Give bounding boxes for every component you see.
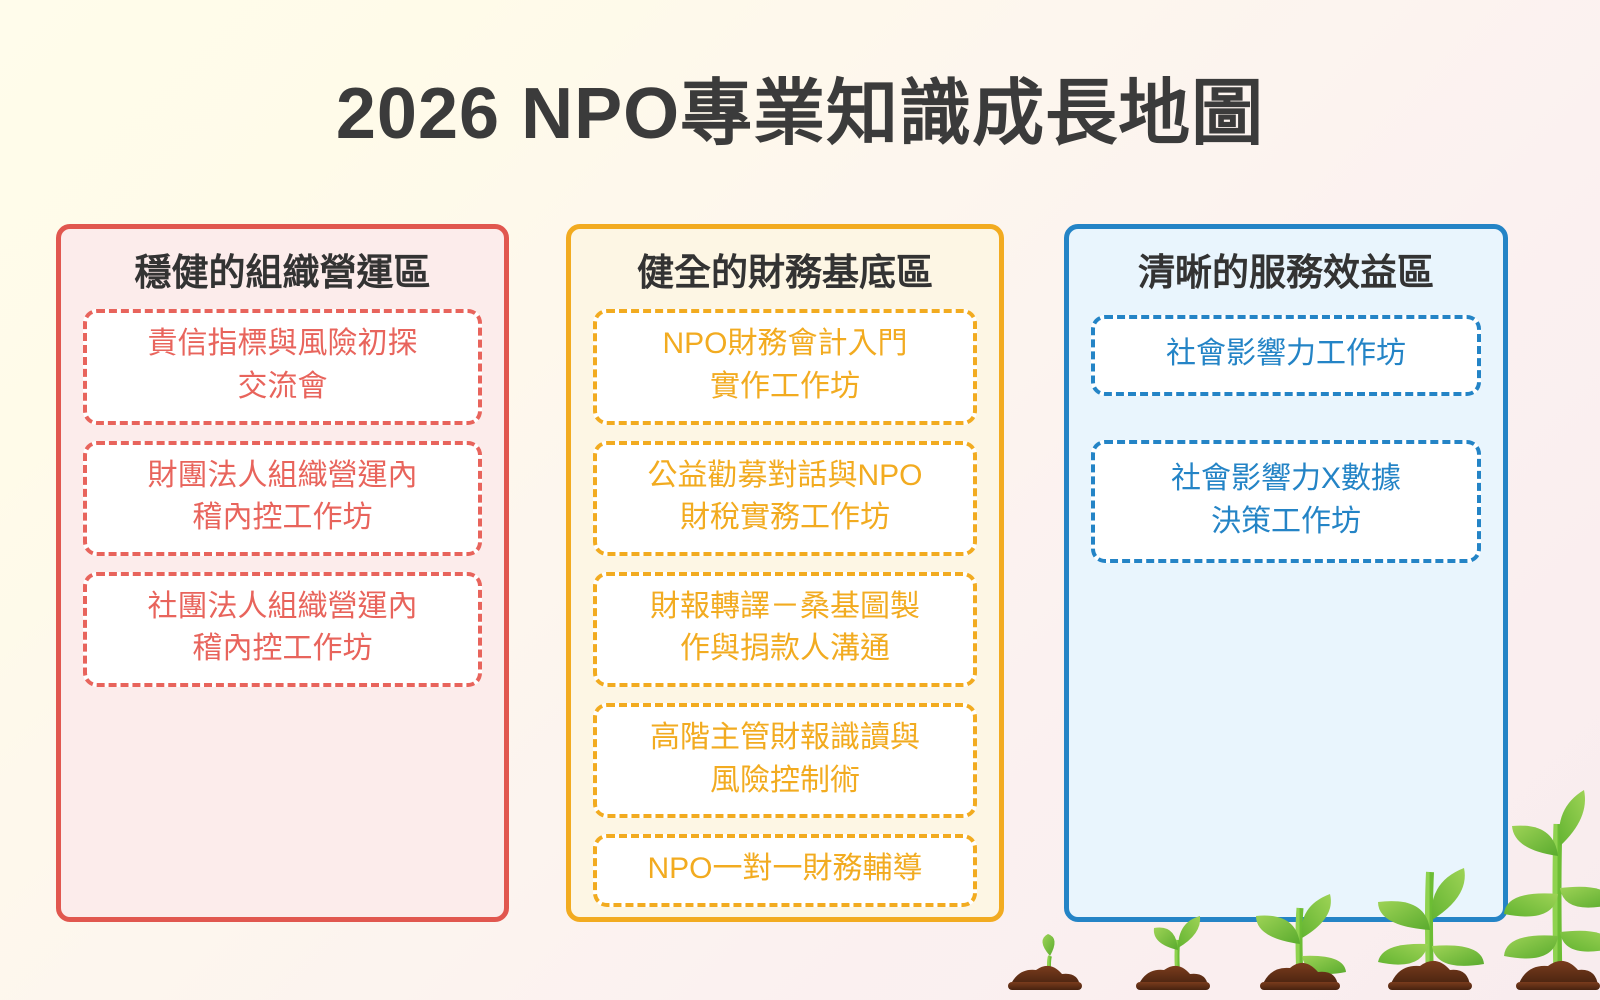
course-card-line: 財報轉譯－桑基圖製 xyxy=(603,586,967,629)
course-card-line: 財稅實務工作坊 xyxy=(603,497,967,540)
column-service-impact: 清晰的服務效益區 社會影響力工作坊 社會影響力X數據 決策工作坊 xyxy=(1064,224,1508,922)
course-card-line: 作與捐款人溝通 xyxy=(603,628,967,671)
course-card[interactable]: 高階主管財報識讀與 風險控制術 xyxy=(593,703,977,818)
course-card[interactable]: 公益勸募對話與NPO 財稅實務工作坊 xyxy=(593,441,977,556)
course-card-line: 公益勸募對話與NPO xyxy=(603,455,967,498)
course-card-line: 責信指標與風險初探 xyxy=(93,323,472,366)
course-card-line: NPO財務會計入門 xyxy=(603,323,967,366)
card-list-service-impact: 社會影響力工作坊 社會影響力X數據 決策工作坊 xyxy=(1091,309,1481,607)
course-card-line: 稽內控工作坊 xyxy=(93,497,472,540)
course-card-line: 實作工作坊 xyxy=(603,366,967,409)
course-card-line: 社會影響力工作坊 xyxy=(1101,333,1471,376)
course-card-line: 稽內控工作坊 xyxy=(93,628,472,671)
course-card[interactable]: 財團法人組織營運內 稽內控工作坊 xyxy=(83,441,482,556)
course-card-line: 決策工作坊 xyxy=(1101,501,1471,544)
page-title: 2026 NPO專業知識成長地圖 xyxy=(0,78,1600,150)
column-header: 穩健的組織營運區 xyxy=(83,243,482,309)
column-header: 清晰的服務效益區 xyxy=(1091,243,1481,309)
course-card[interactable]: 社團法人組織營運內 稽內控工作坊 xyxy=(83,572,482,687)
course-card[interactable]: 社會影響力工作坊 xyxy=(1091,315,1481,396)
course-card[interactable]: 社會影響力X數據 決策工作坊 xyxy=(1091,440,1481,563)
column-organization-operations: 穩健的組織營運區 責信指標與風險初探 交流會 財團法人組織營運內 稽內控工作坊 … xyxy=(56,224,509,922)
course-card-line: 社團法人組織營運內 xyxy=(93,586,472,629)
course-card[interactable]: NPO一對一財務輔導 xyxy=(593,834,977,907)
course-card-line: 高階主管財報識讀與 xyxy=(603,717,967,760)
course-card[interactable]: NPO財務會計入門 實作工作坊 xyxy=(593,309,977,424)
column-financial-foundation: 健全的財務基底區 NPO財務會計入門 實作工作坊 公益勸募對話與NPO 財稅實務… xyxy=(566,224,1004,922)
course-card-line: NPO一對一財務輔導 xyxy=(603,848,967,891)
seedling-stage-2 xyxy=(1136,916,1210,990)
column-header: 健全的財務基底區 xyxy=(593,243,977,309)
seedling-stage-1 xyxy=(1008,934,1082,990)
card-list-financial-foundation: NPO財務會計入門 實作工作坊 公益勸募對話與NPO 財稅實務工作坊 財報轉譯－… xyxy=(593,309,977,922)
course-card-line: 交流會 xyxy=(93,366,472,409)
course-card-line: 財團法人組織營運內 xyxy=(93,455,472,498)
card-list-organization-operations: 責信指標與風險初探 交流會 財團法人組織營運內 稽內控工作坊 社團法人組織營運內… xyxy=(83,309,482,703)
seedling-stage-5 xyxy=(1504,790,1600,990)
course-card-line: 風險控制術 xyxy=(603,760,967,803)
course-card[interactable]: 財報轉譯－桑基圖製 作與捐款人溝通 xyxy=(593,572,977,687)
poster-canvas: 2026 NPO專業知識成長地圖 穩健的組織營運區 責信指標與風險初探 交流會 … xyxy=(0,0,1600,1000)
course-card-line: 社會影響力X數據 xyxy=(1101,458,1471,501)
course-card[interactable]: 責信指標與風險初探 交流會 xyxy=(83,309,482,424)
